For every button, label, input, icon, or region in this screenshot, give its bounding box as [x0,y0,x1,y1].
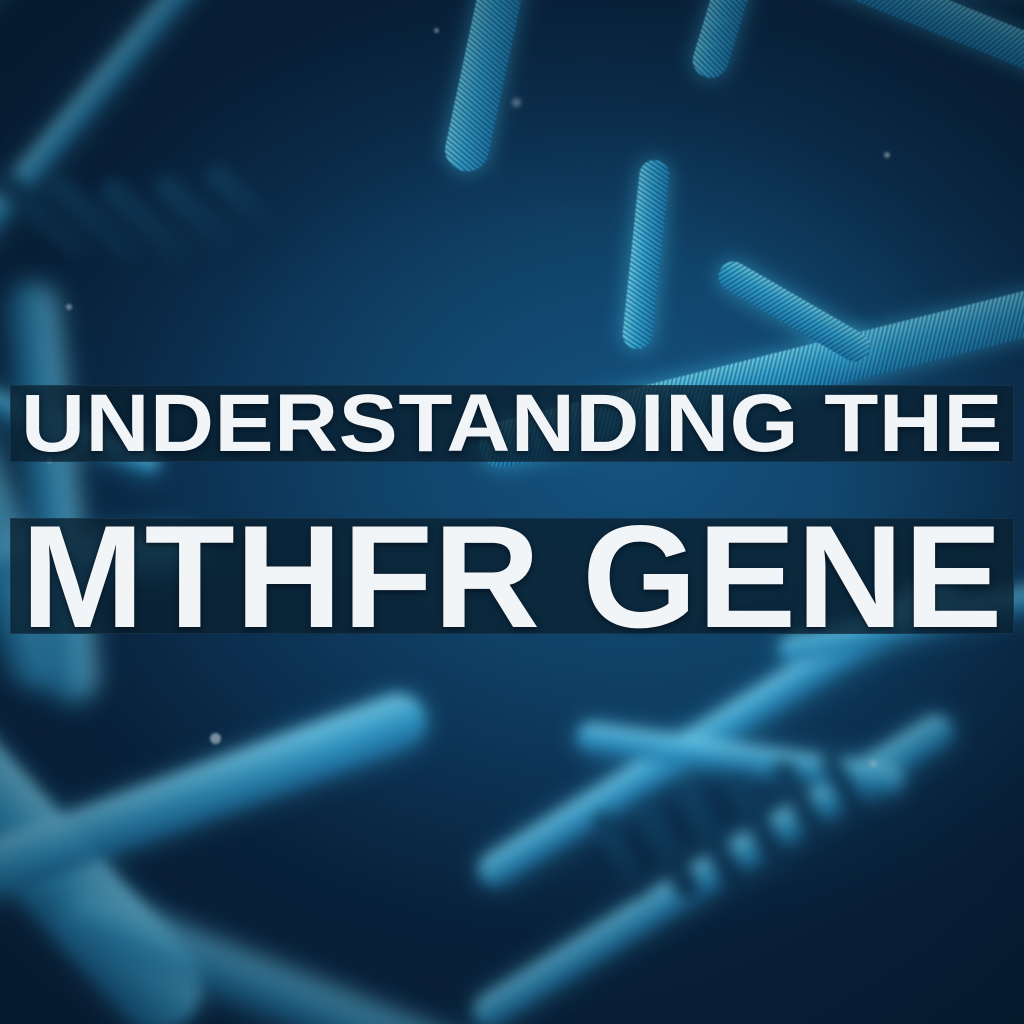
title-line-1: UNDERSTANDING THE [21,383,1003,465]
title-band-lower: MTHFR GENE [10,518,1014,634]
title-card-image: UNDERSTANDING THE MTHFR GENE [0,0,1024,1024]
title-band-upper: UNDERSTANDING THE [10,385,1014,462]
title-line-2: MTHFR GENE [21,504,1003,650]
